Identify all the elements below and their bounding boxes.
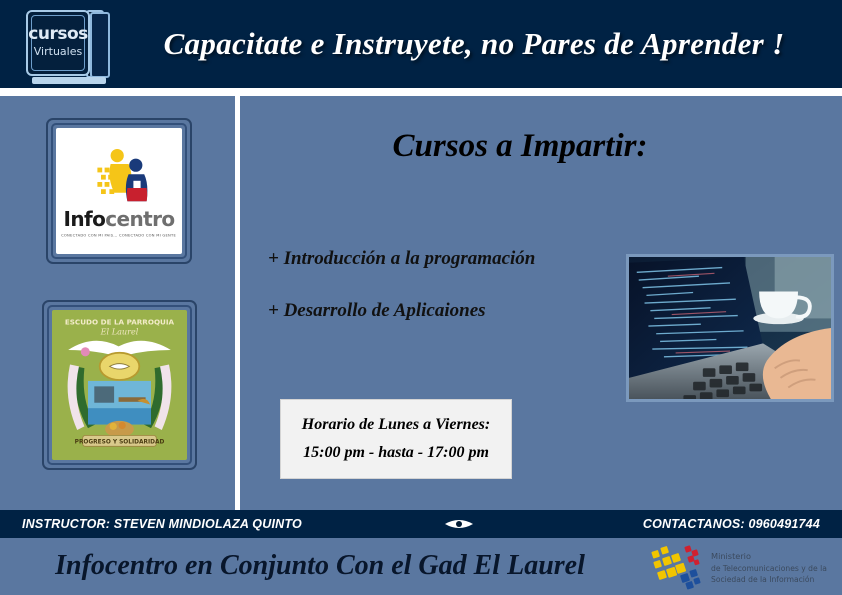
infocentro-word-part1: Info xyxy=(64,207,106,231)
laptop-coding-illustration xyxy=(629,257,831,399)
section-title: Cursos a Impartir: xyxy=(240,128,800,165)
logo-line-virtuales: Virtuales xyxy=(34,45,82,59)
header-separator xyxy=(0,88,842,96)
infocentro-tagline: CONECTADO CON MI PAIS... CONECTADO CON M… xyxy=(62,232,177,237)
contact-phone[interactable]: CONTACTANOS: 0960491744 xyxy=(643,517,820,531)
infocentro-word-part2: centro xyxy=(105,207,174,231)
logo-line-cursos: cursos xyxy=(28,26,87,43)
mintel-dots-icon xyxy=(650,545,706,591)
infocentro-logo-frame: Infocentro CONECTADO CON MI PAIS... CONE… xyxy=(46,118,192,264)
course-item: + Desarrollo de Aplicaiones xyxy=(268,300,486,322)
instructor-label: INSTRUCTOR: STEVEN MINDIOLAZA QUINTO xyxy=(22,517,302,531)
book-spine-icon xyxy=(90,12,110,78)
infocentro-wordmark: Infocentro xyxy=(64,209,175,229)
ministry-line-2: de Telecomunicaciones y de la xyxy=(711,563,827,574)
escudo-parroquia-icon: ESCUDO DE LA PARROQUIA El Laurel xyxy=(52,310,187,460)
eye-icon xyxy=(444,516,474,532)
contact-bar: INSTRUCTOR: STEVEN MINDIOLAZA QUINTO CON… xyxy=(0,510,842,538)
header-bar: cursos Virtuales Capacitate e Instruyete… xyxy=(0,0,842,88)
ministry-text: Ministerio de Telecomunicaciones y de la… xyxy=(711,551,827,585)
body-area: Infocentro CONECTADO CON MI PAIS... CONE… xyxy=(0,96,842,510)
infocentro-logo: Infocentro CONECTADO CON MI PAIS... CONE… xyxy=(56,128,182,254)
schedule-hours: 15:00 pm - hasta - 17:00 pm xyxy=(303,444,489,462)
book-base-icon xyxy=(32,77,106,84)
svg-text:ESCUDO DE LA PARROQUIA: ESCUDO DE LA PARROQUIA xyxy=(65,318,175,327)
svg-text:PROGRESO Y SOLIDARIDAD: PROGRESO Y SOLIDARIDAD xyxy=(75,440,165,446)
ministry-logo: Ministerio de Telecomunicaciones y de la… xyxy=(650,542,840,594)
schedule-box: Horario de Lunes a Viernes: 15:00 pm - h… xyxy=(280,399,512,479)
schedule-days: Horario de Lunes a Viernes: xyxy=(302,416,490,434)
laptop-coding-photo xyxy=(626,254,834,402)
left-column: Infocentro CONECTADO CON MI PAIS... CONE… xyxy=(0,96,235,510)
page-title: Capacitate e Instruyete, no Pares de Apr… xyxy=(114,26,842,62)
ministry-line-3: Sociedad de la Información xyxy=(711,574,827,585)
infocentro-mark-icon xyxy=(83,146,155,206)
escudo-logo-frame: ESCUDO DE LA PARROQUIA El Laurel xyxy=(42,300,197,470)
ministry-line-1: Ministerio xyxy=(711,551,827,563)
footer-title: Infocentro en Conjunto Con el Gad El Lau… xyxy=(0,550,640,582)
footer: Infocentro en Conjunto Con el Gad El Lau… xyxy=(0,538,842,595)
right-column: Cursos a Impartir: + Introducción a la p… xyxy=(240,96,842,510)
svg-text:El Laurel: El Laurel xyxy=(100,327,139,337)
course-item: + Introducción a la programación xyxy=(268,248,535,270)
book-cover-icon: cursos Virtuales xyxy=(26,10,90,76)
cursos-virtuales-logo: cursos Virtuales xyxy=(22,8,114,80)
poster-root: cursos Virtuales Capacitate e Instruyete… xyxy=(0,0,842,595)
